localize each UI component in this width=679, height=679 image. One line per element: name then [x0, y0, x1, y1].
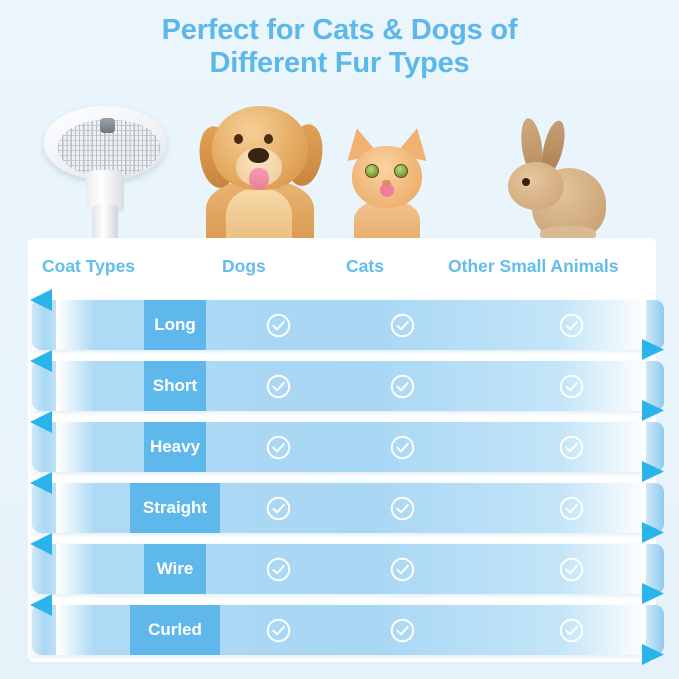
check-circle-icon: [390, 557, 415, 582]
coat-type-chip: Curled: [130, 605, 220, 655]
check-circle-icon: [266, 557, 291, 582]
coat-type-chip: Long: [144, 300, 206, 350]
coat-type-chip: Short: [144, 361, 206, 411]
table-row: Long: [16, 300, 664, 350]
check-circle-icon: [559, 435, 584, 460]
infographic-page: Perfect for Cats & Dogs of Different Fur…: [0, 0, 679, 679]
ribbon-banner: Curled: [32, 605, 648, 655]
check-circle-icon: [266, 618, 291, 643]
coat-type-label: Curled: [148, 620, 202, 640]
check-circle-icon: [266, 496, 291, 521]
ribbon-banner: Heavy: [32, 422, 648, 472]
table-body: LongShortHeavyStraightWireCurled: [0, 0, 679, 679]
check-circle-icon: [266, 374, 291, 399]
table-row: Short: [16, 361, 664, 411]
check-circle-icon: [559, 557, 584, 582]
table-row: Straight: [16, 483, 664, 533]
table-row: Curled: [16, 605, 664, 655]
check-circle-icon: [390, 496, 415, 521]
coat-type-label: Short: [153, 376, 197, 396]
coat-type-chip: Straight: [130, 483, 220, 533]
ribbon-left-fold: [32, 361, 56, 411]
table-row: Wire: [16, 544, 664, 594]
check-circle-icon: [390, 618, 415, 643]
ribbon-left-fold: [32, 300, 56, 350]
check-circle-icon: [390, 313, 415, 338]
check-circle-icon: [266, 435, 291, 460]
ribbon-banner: Straight: [32, 483, 648, 533]
ribbon-banner: Short: [32, 361, 648, 411]
check-circle-icon: [390, 435, 415, 460]
check-circle-icon: [266, 313, 291, 338]
coat-type-label: Straight: [143, 498, 207, 518]
ribbon-left-fold: [32, 483, 56, 533]
check-circle-icon: [390, 374, 415, 399]
check-circle-icon: [559, 618, 584, 643]
table-row: Heavy: [16, 422, 664, 472]
ribbon-banner: Long: [32, 300, 648, 350]
coat-type-label: Wire: [157, 559, 194, 579]
ribbon-left-fold: [32, 605, 56, 655]
check-circle-icon: [559, 313, 584, 338]
ribbon-banner: Wire: [32, 544, 648, 594]
coat-type-label: Heavy: [150, 437, 200, 457]
ribbon-left-fold: [32, 544, 56, 594]
check-circle-icon: [559, 496, 584, 521]
coat-type-label: Long: [154, 315, 196, 335]
check-circle-icon: [559, 374, 584, 399]
coat-type-chip: Wire: [144, 544, 206, 594]
coat-type-chip: Heavy: [144, 422, 206, 472]
ribbon-left-fold: [32, 422, 56, 472]
